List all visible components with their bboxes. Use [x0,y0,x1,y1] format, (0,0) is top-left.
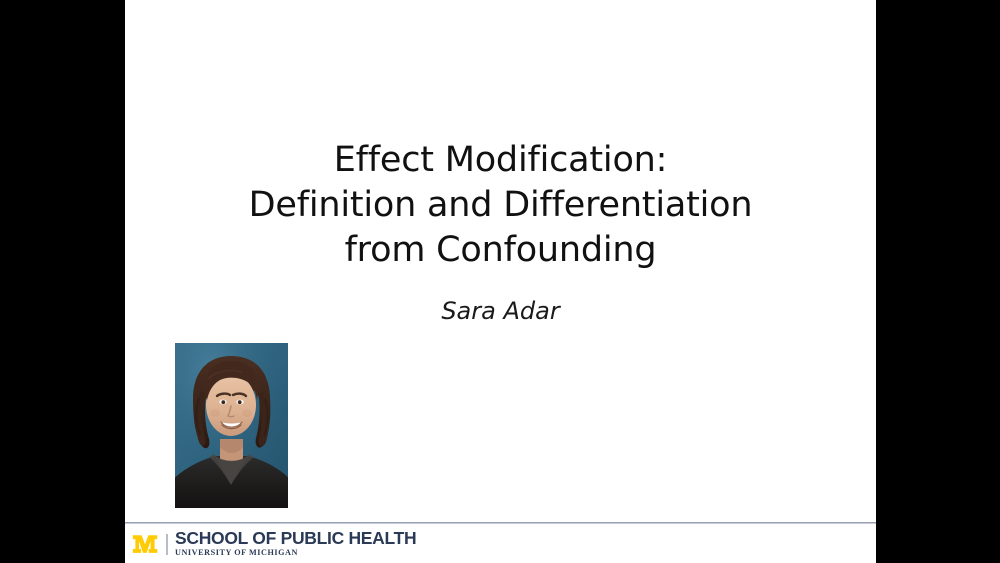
slide-title-line-1: Effect Modification: [125,138,876,183]
footer-divider [125,522,876,524]
logo-wordmark: SCHOOL OF PUBLIC HEALTH UNIVERSITY OF MI… [175,530,416,558]
letterbox-bar-right [876,0,1000,563]
video-player-frame: Effect Modification: Definition and Diff… [0,0,1000,563]
logo-school-name: SCHOOL OF PUBLIC HEALTH [175,530,416,547]
slide-title: Effect Modification: Definition and Diff… [125,138,876,273]
block-m-icon [132,534,158,554]
presentation-slide: Effect Modification: Definition and Diff… [125,0,876,563]
logo-university-name: UNIVERSITY OF MICHIGAN [175,548,416,558]
speaker-headshot-image [175,343,288,508]
logo-separator [166,534,168,555]
university-logo: SCHOOL OF PUBLIC HEALTH UNIVERSITY OF MI… [132,530,416,558]
slide-presenter-name: Sara Adar [125,297,876,325]
slide-title-line-2: Definition and Differentiation [125,183,876,228]
headshot-illustration [175,343,288,508]
slide-title-line-3: from Confounding [125,228,876,273]
letterbox-bar-left [0,0,125,563]
